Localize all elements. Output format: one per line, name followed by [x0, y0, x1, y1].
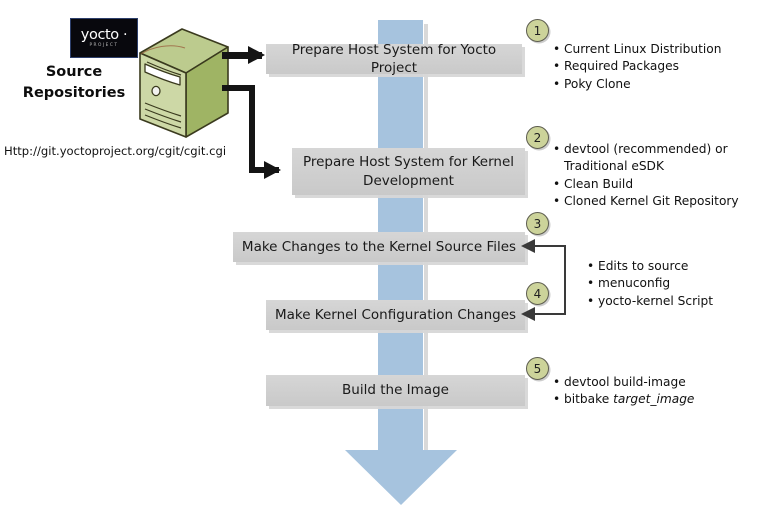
feedback-loop-bottom-arrowhead — [521, 307, 535, 321]
connector-server-to-step2-arrowhead — [264, 161, 281, 179]
step-1-note-item: Current Linux Distribution — [564, 41, 766, 58]
step-2-number-badge: 2 — [526, 126, 549, 149]
shared-note-item: yocto-kernel Script — [598, 293, 765, 310]
step-2-note-item: devtool (recommended) or Traditional eSD… — [564, 141, 751, 176]
step-1-box[interactable]: Prepare Host System for Yocto Project — [266, 44, 522, 74]
connector-server-to-step1-arrowhead — [248, 46, 265, 64]
step-1-box-label: Prepare Host System for Yocto Project — [274, 41, 514, 77]
step-4-number: 4 — [534, 287, 542, 301]
yocto-logo-subtext: PROJECT — [89, 44, 118, 48]
step-1-note-item: Required Packages — [564, 58, 766, 75]
shared-note-item: menuconfig — [598, 275, 765, 292]
step-2-number: 2 — [534, 131, 542, 145]
step-1-notes: Current Linux Distribution Required Pack… — [551, 41, 766, 93]
step-1-number: 1 — [534, 24, 542, 38]
step-2-note-item: Clean Build — [564, 176, 751, 193]
step-5-box[interactable]: Build the Image — [266, 375, 525, 406]
feedback-loop-top-arrowhead — [521, 239, 535, 253]
step-2-notes: devtool (recommended) or Traditional eSD… — [551, 141, 751, 210]
shared-note-item: Edits to source — [598, 258, 765, 275]
step-4-box[interactable]: Make Kernel Configuration Changes — [266, 300, 525, 330]
yocto-project-logo: yocto · PROJECT — [70, 18, 138, 58]
step-5-number: 5 — [534, 362, 542, 376]
step-4-box-label: Make Kernel Configuration Changes — [275, 306, 516, 324]
blue-flow-arrow-head — [345, 450, 457, 505]
source-repositories-label: Source Repositories — [0, 62, 148, 104]
steps-3-4-shared-notes: Edits to source menuconfig yocto-kernel … — [585, 258, 765, 310]
step-5-note-item: bitbake target_image — [564, 391, 751, 408]
feedback-loop-vertical-line — [564, 245, 566, 314]
connector-server-to-step2-vertical — [249, 85, 255, 170]
step-1-note-item: Poky Clone — [564, 76, 766, 93]
step-3-number: 3 — [534, 217, 542, 231]
step-5-number-badge: 5 — [526, 357, 549, 380]
step-5-box-label: Build the Image — [342, 381, 449, 399]
step-3-box[interactable]: Make Changes to the Kernel Source Files — [233, 232, 525, 262]
server-tower-icon — [136, 27, 232, 139]
feedback-loop-bottom-line — [533, 313, 566, 315]
step-2-box[interactable]: Prepare Host System for Kernel Developme… — [292, 148, 525, 195]
diagram-canvas: yocto · PROJECT Source Repositories Http… — [0, 0, 769, 517]
step-5-note-emphasis: target_image — [613, 392, 694, 406]
step-2-box-label: Prepare Host System for Kernel Developme… — [300, 153, 517, 189]
step-3-box-label: Make Changes to the Kernel Source Files — [242, 238, 516, 256]
step-5-note-text: bitbake — [564, 392, 613, 406]
step-1-number-badge: 1 — [526, 19, 549, 42]
source-repositories-url: Http://git.yoctoproject.org/cgit/cgit.cg… — [4, 144, 226, 158]
step-3-number-badge: 3 — [526, 212, 549, 235]
step-5-note-item: devtool build-image — [564, 374, 751, 391]
step-4-number-badge: 4 — [526, 282, 549, 305]
feedback-loop-top-line — [533, 245, 566, 247]
step-5-notes: devtool build-image bitbake target_image — [551, 374, 751, 409]
step-2-note-item: Cloned Kernel Git Repository — [564, 193, 751, 210]
yocto-logo-wordmark: yocto · — [81, 28, 127, 43]
step-5-note-text: devtool build-image — [564, 375, 686, 389]
